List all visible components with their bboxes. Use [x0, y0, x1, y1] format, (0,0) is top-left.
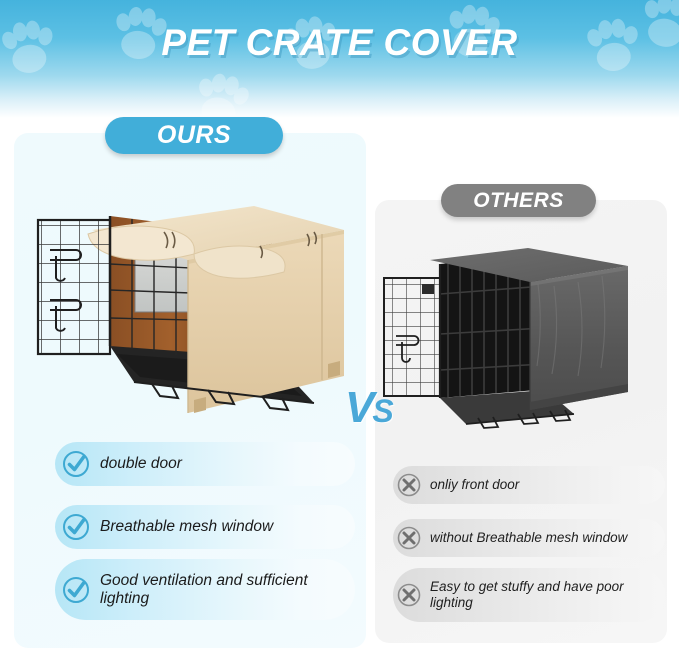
ours-product-image: [22, 168, 362, 413]
vs-divider: VS: [345, 386, 392, 430]
vs-letter-s: S: [372, 393, 391, 429]
comparison-infographic: PET CRATE COVER: [0, 0, 679, 660]
ours-feature-row: double door: [55, 442, 355, 486]
page-title: PET CRATE COVER: [0, 22, 679, 64]
check-circle-icon: [61, 575, 91, 605]
ours-feature-label: Good ventilation and sufficient lighting: [100, 572, 355, 608]
ours-feature-label: Breathable mesh window: [100, 518, 273, 536]
others-feature-label: without Breathable mesh window: [430, 530, 627, 546]
ours-badge-label: OURS: [157, 121, 231, 150]
others-feature-label: Easy to get stuffy and have poor lightin…: [430, 579, 665, 610]
others-feature-label: onliy front door: [430, 477, 519, 493]
ours-feature-label: double door: [100, 455, 182, 473]
ours-feature-row: Good ventilation and sufficient lighting: [55, 559, 355, 620]
check-circle-icon: [61, 449, 91, 479]
x-circle-icon: [396, 525, 422, 551]
others-badge-label: OTHERS: [473, 189, 564, 213]
x-circle-icon: [396, 472, 422, 498]
others-feature-row: onliy front door: [393, 466, 665, 504]
others-feature-row: without Breathable mesh window: [393, 519, 665, 557]
ours-feature-row: Breathable mesh window: [55, 505, 355, 549]
others-badge: OTHERS: [441, 184, 596, 217]
vs-letter-v: V: [345, 383, 372, 432]
check-circle-icon: [61, 512, 91, 542]
ours-badge: OURS: [105, 117, 283, 154]
others-product-image: [378, 242, 666, 432]
x-circle-icon: [396, 582, 422, 608]
header-banner: PET CRATE COVER: [0, 0, 679, 118]
others-feature-row: Easy to get stuffy and have poor lightin…: [393, 568, 665, 622]
